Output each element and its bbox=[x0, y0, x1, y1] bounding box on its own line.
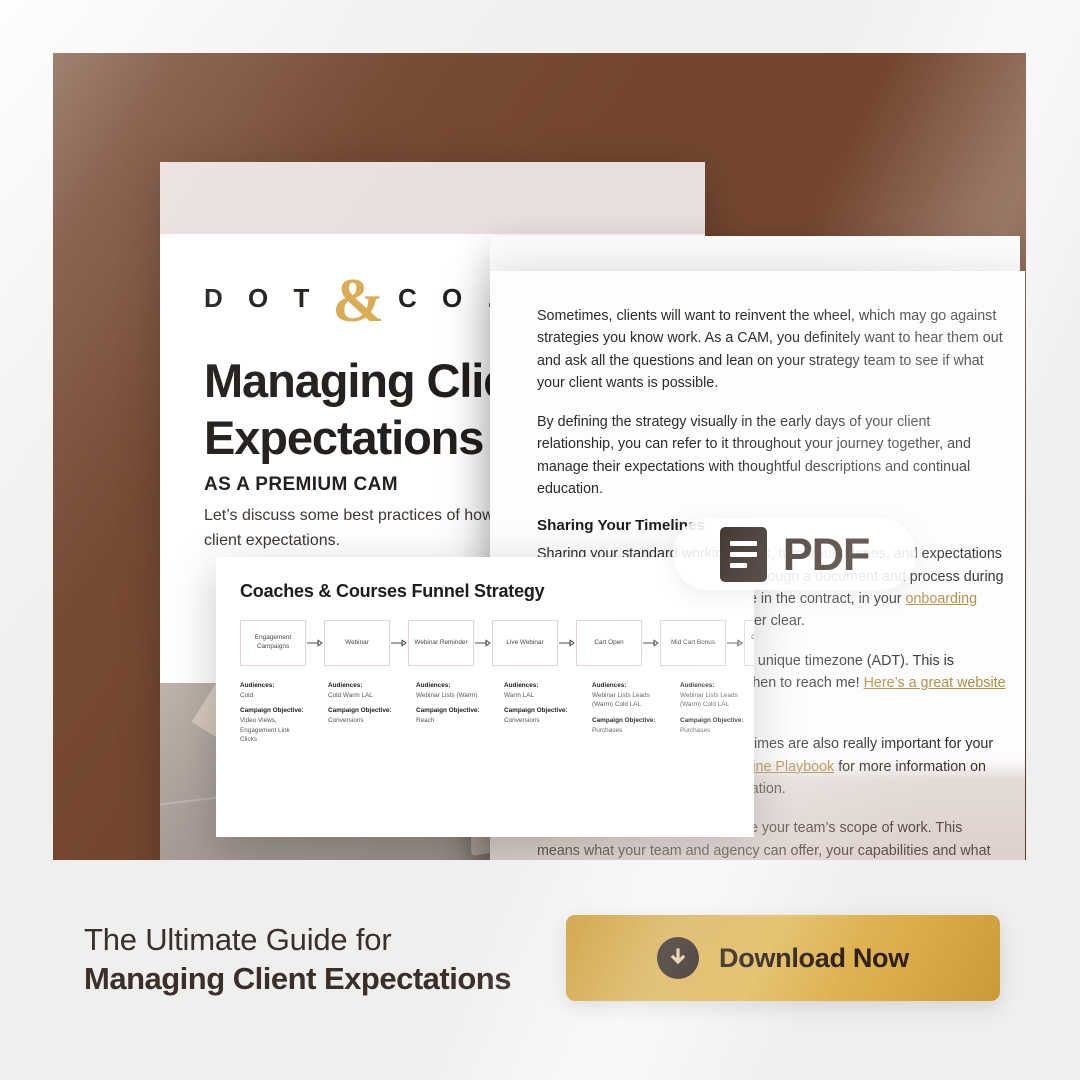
audiences-value: Cold Warm LAL bbox=[328, 691, 394, 700]
funnel-stage-label: Engagement Campaigns bbox=[240, 620, 306, 666]
funnel-arrow-icon bbox=[726, 620, 744, 666]
funnel-stage: Live Webinar bbox=[492, 620, 558, 666]
cover-kicker: AS A PREMIUM CAM bbox=[204, 474, 398, 496]
body-paragraph-1: Sometimes, clients will want to reinvent… bbox=[537, 305, 1007, 394]
objective-label: Campaign Objective: bbox=[504, 707, 570, 716]
body-paragraph-2: By defining the strategy visually in the… bbox=[537, 411, 1007, 500]
download-now-button[interactable]: Download Now bbox=[566, 915, 1000, 1001]
funnel-stage-row: Engagement CampaignsWebinarWebinar Remin… bbox=[240, 620, 734, 666]
download-now-label: Download Now bbox=[719, 943, 909, 974]
funnel-title: Coaches & Courses Funnel Strategy bbox=[240, 581, 734, 602]
funnel-stage-label: Live Webinar bbox=[492, 620, 558, 666]
objective-label: Campaign Objective: bbox=[416, 707, 482, 716]
funnel-stage: Webinar bbox=[324, 620, 390, 666]
objective-value: Purchases bbox=[592, 726, 658, 735]
logo-word-dot: D O T bbox=[204, 283, 318, 314]
download-arrow-icon bbox=[657, 937, 699, 979]
audiences-value: Webinar Lists (Warm) bbox=[416, 691, 482, 700]
promo-line-1: The Ultimate Guide for bbox=[84, 922, 391, 958]
objective-value: Purchases bbox=[680, 726, 746, 735]
funnel-stage: Webinar Reminder bbox=[408, 620, 474, 666]
objective-value: Video Views, Engagement Link Clicks bbox=[240, 716, 306, 744]
audiences-label: Audiences: bbox=[328, 682, 394, 691]
audiences-label: Audiences: bbox=[680, 682, 746, 691]
funnel-stage: Cart Open bbox=[576, 620, 642, 666]
pdf-badge: PDF bbox=[673, 518, 916, 590]
funnel-arrow-icon bbox=[306, 620, 324, 666]
funnel-stage-meta: Audiences:Webinar Lists (Warm)Campaign O… bbox=[416, 682, 482, 744]
funnel-stage: Mid Cart Bonus bbox=[660, 620, 726, 666]
funnel-arrow-icon bbox=[642, 620, 660, 666]
audiences-value: Webinar Lists Leads (Warm) Cold LAL bbox=[592, 691, 658, 710]
funnel-strategy-card[interactable]: Coaches & Courses Funnel Strategy Engage… bbox=[216, 557, 754, 837]
funnel-stage: Cart Close & Final Day bbox=[744, 620, 754, 666]
audiences-label: Audiences: bbox=[416, 682, 482, 691]
funnel-stage-label: Webinar bbox=[324, 620, 390, 666]
audiences-value: Cold bbox=[240, 691, 306, 700]
objective-value: Conversions bbox=[504, 716, 570, 725]
promo-line-2: Managing Client Expectations bbox=[84, 961, 511, 997]
funnel-stage-label: Cart Close & Final Day bbox=[744, 620, 754, 666]
funnel-stage: Engagement Campaigns bbox=[240, 620, 306, 666]
objective-label: Campaign Objective: bbox=[592, 717, 658, 726]
funnel-stage-meta: Audiences:Warm LALCampaign Objective:Con… bbox=[504, 682, 570, 744]
funnel-arrow-icon bbox=[474, 620, 492, 666]
hero-panel: D O T & C O . Managing Client Expectatio… bbox=[53, 53, 1026, 860]
brand-logo: D O T & C O . bbox=[204, 277, 504, 320]
bottom-bar: The Ultimate Guide for Managing Client E… bbox=[0, 860, 1080, 1080]
funnel-stage-label: Mid Cart Bonus bbox=[660, 620, 726, 666]
objective-label: Campaign Objective: bbox=[328, 707, 394, 716]
promo-canvas: D O T & C O . Managing Client Expectatio… bbox=[0, 0, 1080, 1080]
document-icon bbox=[720, 527, 767, 582]
funnel-stage-meta: Audiences:Cold Warm LALCampaign Objectiv… bbox=[328, 682, 394, 744]
audiences-label: Audiences: bbox=[592, 682, 658, 691]
audiences-value: Webinar Lists Leads (Warm) Cold LAL bbox=[680, 691, 746, 710]
funnel-stage-meta: Audiences:Webinar Lists Leads (Warm) Col… bbox=[680, 682, 746, 744]
objective-value: Conversions bbox=[328, 716, 394, 725]
objective-value: Reach bbox=[416, 716, 482, 725]
funnel-stage-meta: Audiences:ColdCampaign Objective:Video V… bbox=[240, 682, 306, 744]
logo-word-co: C O . bbox=[398, 283, 504, 314]
pdf-badge-label: PDF bbox=[783, 532, 869, 577]
funnel-stage-meta: Audiences:Webinar Lists Leads (Warm) Col… bbox=[592, 682, 658, 744]
funnel-stage-label: Cart Open bbox=[576, 620, 642, 666]
cover-top-band bbox=[160, 162, 705, 234]
onboarding-link[interactable]: onboarding bbox=[906, 591, 978, 607]
funnel-stage-label: Webinar Reminder bbox=[408, 620, 474, 666]
audiences-label: Audiences: bbox=[240, 682, 306, 691]
funnel-arrow-icon bbox=[390, 620, 408, 666]
logo-ampersand-icon: & bbox=[332, 280, 384, 323]
objective-label: Campaign Objective: bbox=[240, 707, 306, 716]
audiences-label: Audiences: bbox=[504, 682, 570, 691]
audiences-value: Warm LAL bbox=[504, 691, 570, 700]
funnel-arrow-icon bbox=[558, 620, 576, 666]
timezone-website-link[interactable]: Here’s a great website bbox=[864, 675, 1006, 691]
funnel-meta-row: Audiences:ColdCampaign Objective:Video V… bbox=[240, 682, 734, 744]
objective-label: Campaign Objective: bbox=[680, 717, 746, 726]
